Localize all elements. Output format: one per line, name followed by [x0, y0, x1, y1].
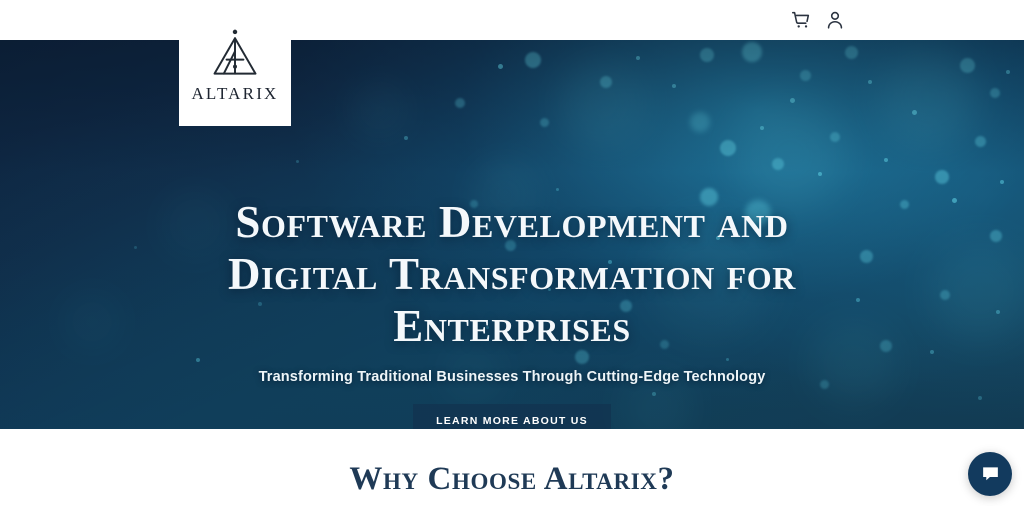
hero-section: Software Development and Digital Transfo… — [0, 40, 1024, 429]
account-icon[interactable] — [824, 9, 846, 31]
why-choose-title: Why Choose Altarix? — [349, 461, 674, 498]
why-choose-section: Why Choose Altarix? — [0, 429, 1024, 506]
hero-content: Software Development and Digital Transfo… — [0, 40, 1024, 429]
hero-title: Software Development and Digital Transfo… — [162, 196, 862, 352]
learn-more-button[interactable]: LEARN MORE ABOUT US — [413, 404, 611, 429]
header-icon-group — [790, 9, 846, 31]
hero-subtitle: Transforming Traditional Businesses Thro… — [259, 369, 766, 385]
site-header — [0, 0, 1024, 40]
chat-bubble-icon — [980, 464, 1001, 485]
cart-icon[interactable] — [790, 9, 812, 31]
chat-widget-button[interactable] — [968, 452, 1012, 496]
logo-wordmark: ALTARIX — [191, 84, 278, 104]
triangle-a-icon — [207, 28, 263, 82]
altarix-logo[interactable]: ALTARIX — [179, 0, 291, 126]
